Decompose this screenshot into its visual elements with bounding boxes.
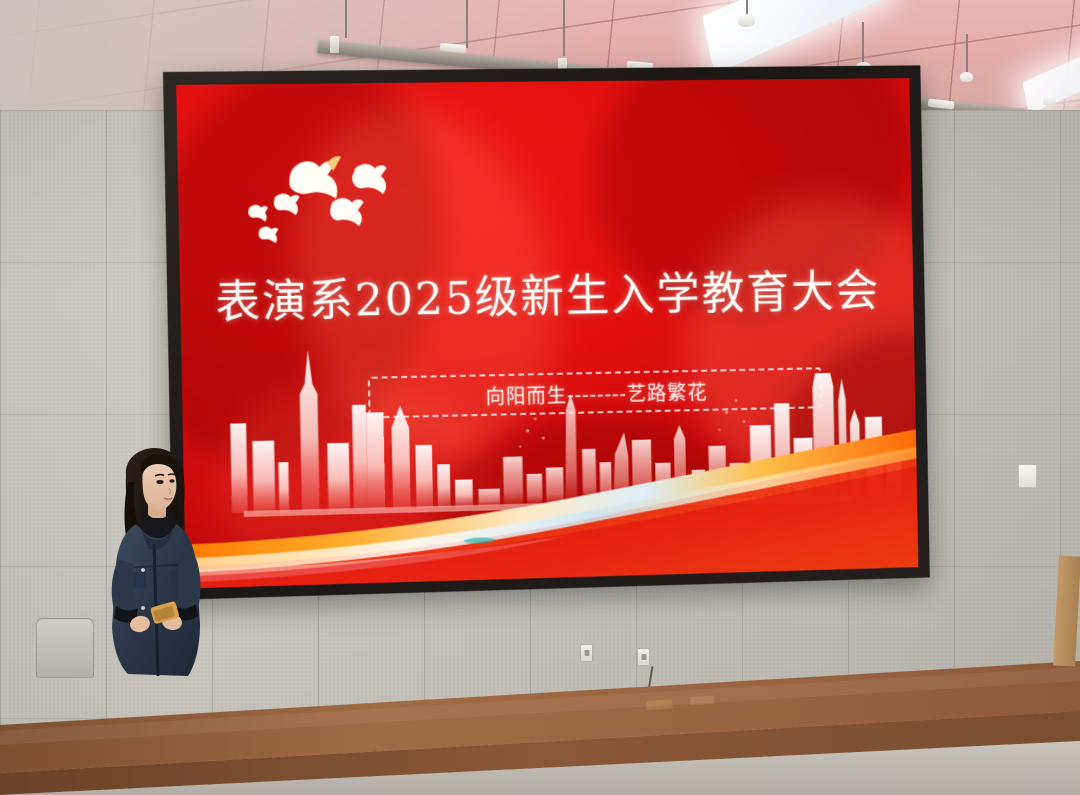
flying-doves-icon xyxy=(232,148,421,250)
hanging-rod xyxy=(345,0,347,38)
led-display-screen: 表演系2025级新生入学教育大会 向阳而生--------艺路繁花 xyxy=(163,65,930,600)
hanging-rod xyxy=(563,0,565,56)
track-hanger-icon xyxy=(330,36,339,53)
hanging-rod xyxy=(966,34,968,76)
ceiling-speaker-icon xyxy=(960,72,973,82)
presenter-person xyxy=(96,448,216,683)
leaning-board xyxy=(1053,555,1080,666)
chair xyxy=(36,618,94,678)
auditorium-photo-scene: 表演系2025级新生入学教育大会 向阳而生--------艺路繁花 xyxy=(0,0,1080,795)
wall-switch[interactable] xyxy=(1018,464,1037,488)
hanging-rod xyxy=(466,0,468,48)
ceiling-speaker-icon xyxy=(1043,96,1056,106)
screen-bezel: 表演系2025级新生入学教育大会 向阳而生--------艺路繁花 xyxy=(163,65,930,600)
ceiling-speaker-icon xyxy=(738,14,755,27)
swoosh-ribbon-graphic xyxy=(182,396,918,588)
screen-content: 表演系2025级新生入学教育大会 向阳而生--------艺路繁花 xyxy=(176,78,918,588)
